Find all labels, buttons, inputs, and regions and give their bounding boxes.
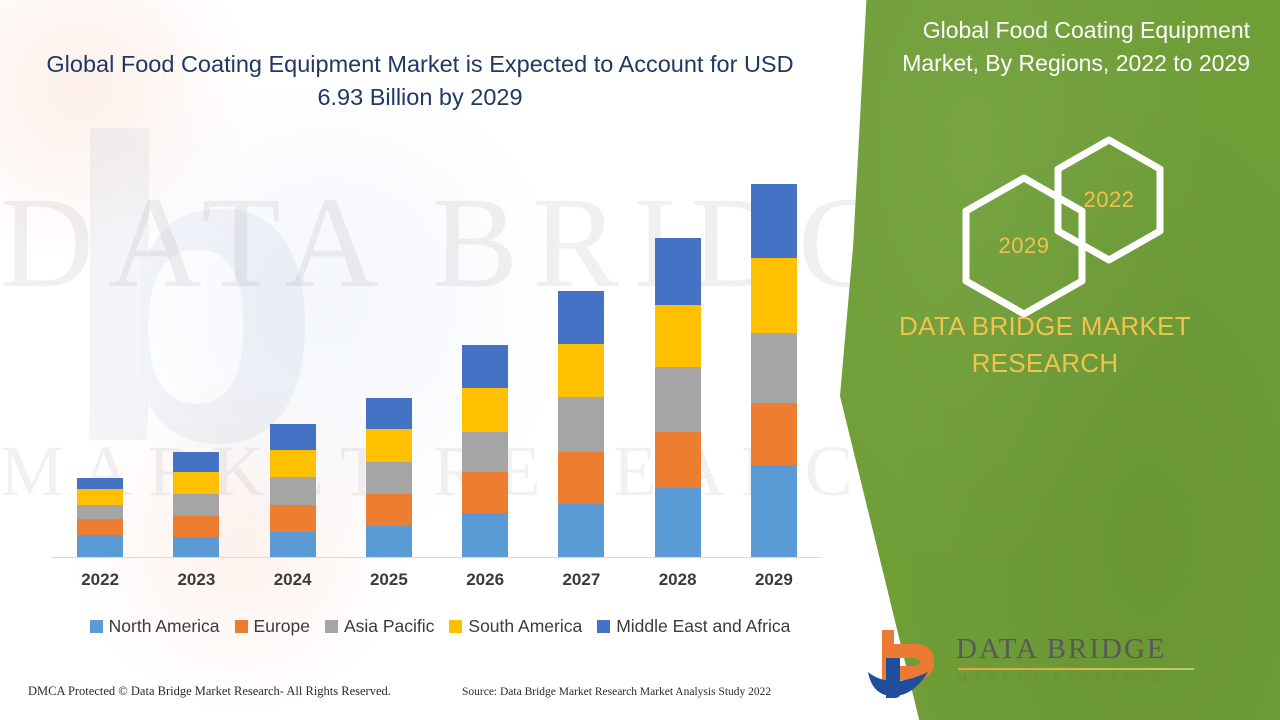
bar-segment <box>366 398 412 429</box>
bar-segment <box>462 513 508 557</box>
bar-segment <box>462 432 508 472</box>
bar-segment <box>270 450 316 477</box>
legend-label: South America <box>468 616 582 637</box>
bar-segment <box>558 291 604 344</box>
legend-item: Asia Pacific <box>325 616 434 637</box>
footer-source: Source: Data Bridge Market Research Mark… <box>462 686 771 698</box>
x-axis-line <box>52 557 822 558</box>
chart-title: Global Food Coating Equipment Market is … <box>40 48 800 115</box>
legend-label: Middle East and Africa <box>616 616 790 637</box>
x-axis-label-2026: 2026 <box>444 570 526 590</box>
legend-swatch-icon <box>597 620 610 633</box>
legend-item: South America <box>449 616 582 637</box>
x-axis-label-2024: 2024 <box>252 570 334 590</box>
bar-segment <box>751 184 797 258</box>
x-axis-label-2028: 2028 <box>637 570 719 590</box>
legend-item: Europe <box>235 616 310 637</box>
stacked-bar <box>655 238 701 557</box>
bar-segment <box>270 477 316 505</box>
bar-segment <box>173 452 219 472</box>
legend-swatch-icon <box>90 620 103 633</box>
bar-column-2026 <box>444 150 526 557</box>
stacked-bar <box>173 452 219 557</box>
legend-label: Europe <box>254 616 310 637</box>
bar-segment <box>751 258 797 333</box>
x-axis-label-2025: 2025 <box>348 570 430 590</box>
bar-segment <box>558 397 604 452</box>
bar-segment <box>77 535 123 557</box>
legend-label: Asia Pacific <box>344 616 434 637</box>
bar-segment <box>655 305 701 367</box>
legend-item: Middle East and Africa <box>597 616 790 637</box>
bar-segment <box>751 465 797 557</box>
bar-segment <box>655 488 701 557</box>
stacked-bar <box>558 291 604 557</box>
footer-copyright: DMCA Protected © Data Bridge Market Rese… <box>28 684 391 699</box>
hexagon-start-label: 2022 <box>1084 187 1135 213</box>
logo-wordmark: DATA BRIDGE MARKET RESEARCH <box>956 634 1256 686</box>
logo-divider <box>958 668 1194 670</box>
chart-panel: Global Food Coating Equipment Market is … <box>0 0 880 720</box>
legend-swatch-icon <box>325 620 338 633</box>
bar-segment <box>173 494 219 516</box>
brand-name-text: DATA BRIDGE MARKET RESEARCH <box>880 308 1210 382</box>
bar-segment <box>462 472 508 513</box>
x-axis-labels: 20222023202420252026202720282029 <box>52 570 822 590</box>
chart-plot-area <box>52 150 822 558</box>
stacked-bar <box>366 398 412 557</box>
hexagon-badge-end: 2029 <box>958 172 1090 320</box>
stacked-bar <box>751 184 797 557</box>
bar-segment <box>655 432 701 488</box>
bar-segment <box>173 516 219 537</box>
bar-segment <box>173 537 219 557</box>
stacked-bar <box>462 345 508 557</box>
bar-segment <box>462 345 508 388</box>
bar-segment <box>77 489 123 505</box>
x-axis-label-2023: 2023 <box>155 570 237 590</box>
bar-column-2022 <box>59 150 141 557</box>
bar-column-2027 <box>540 150 622 557</box>
bar-column-2025 <box>348 150 430 557</box>
bar-segment <box>462 388 508 432</box>
bar-segment <box>77 478 123 489</box>
panel-title: Global Food Coating Equipment Market, By… <box>890 14 1250 81</box>
bar-column-2028 <box>637 150 719 557</box>
bar-segment <box>366 526 412 557</box>
bar-column-2024 <box>252 150 334 557</box>
bar-segment <box>270 424 316 450</box>
stacked-bar <box>270 424 316 557</box>
infographic-canvas: b DATA BRIDGE MARKET RESEARCH Global Foo… <box>0 0 1280 720</box>
bar-segment <box>655 238 701 305</box>
chart-legend: North AmericaEuropeAsia PacificSouth Ame… <box>40 616 840 637</box>
bar-segment <box>77 519 123 535</box>
legend-item: North America <box>90 616 220 637</box>
legend-label: North America <box>109 616 220 637</box>
bar-segment <box>366 462 412 494</box>
x-axis-label-2027: 2027 <box>540 570 622 590</box>
bar-segment <box>558 452 604 504</box>
bar-segment <box>366 494 412 526</box>
bar-segment <box>558 504 604 557</box>
bar-group <box>52 150 822 557</box>
bar-segment <box>751 403 797 465</box>
logo-title: DATA BRIDGE <box>956 634 1256 666</box>
logo-mark-icon <box>864 628 946 698</box>
hexagon-end-label: 2029 <box>999 233 1050 259</box>
bar-column-2023 <box>155 150 237 557</box>
bar-segment <box>558 344 604 397</box>
green-side-panel: Global Food Coating Equipment Market, By… <box>840 0 1280 720</box>
legend-swatch-icon <box>449 620 462 633</box>
bar-segment <box>173 472 219 494</box>
bar-segment <box>77 505 123 519</box>
bar-segment <box>751 333 797 403</box>
bar-segment <box>655 367 701 432</box>
bar-segment <box>270 505 316 532</box>
stacked-bar <box>77 478 123 557</box>
bar-segment <box>366 429 412 462</box>
data-bridge-logo: DATA BRIDGE MARKET RESEARCH <box>864 626 1264 700</box>
hexagon-badges: 2022 2029 <box>948 128 1178 293</box>
logo-subtitle: MARKET RESEARCH <box>956 672 1256 686</box>
x-axis-label-2029: 2029 <box>733 570 815 590</box>
bar-segment <box>270 532 316 557</box>
bar-column-2029 <box>733 150 815 557</box>
x-axis-label-2022: 2022 <box>59 570 141 590</box>
legend-swatch-icon <box>235 620 248 633</box>
